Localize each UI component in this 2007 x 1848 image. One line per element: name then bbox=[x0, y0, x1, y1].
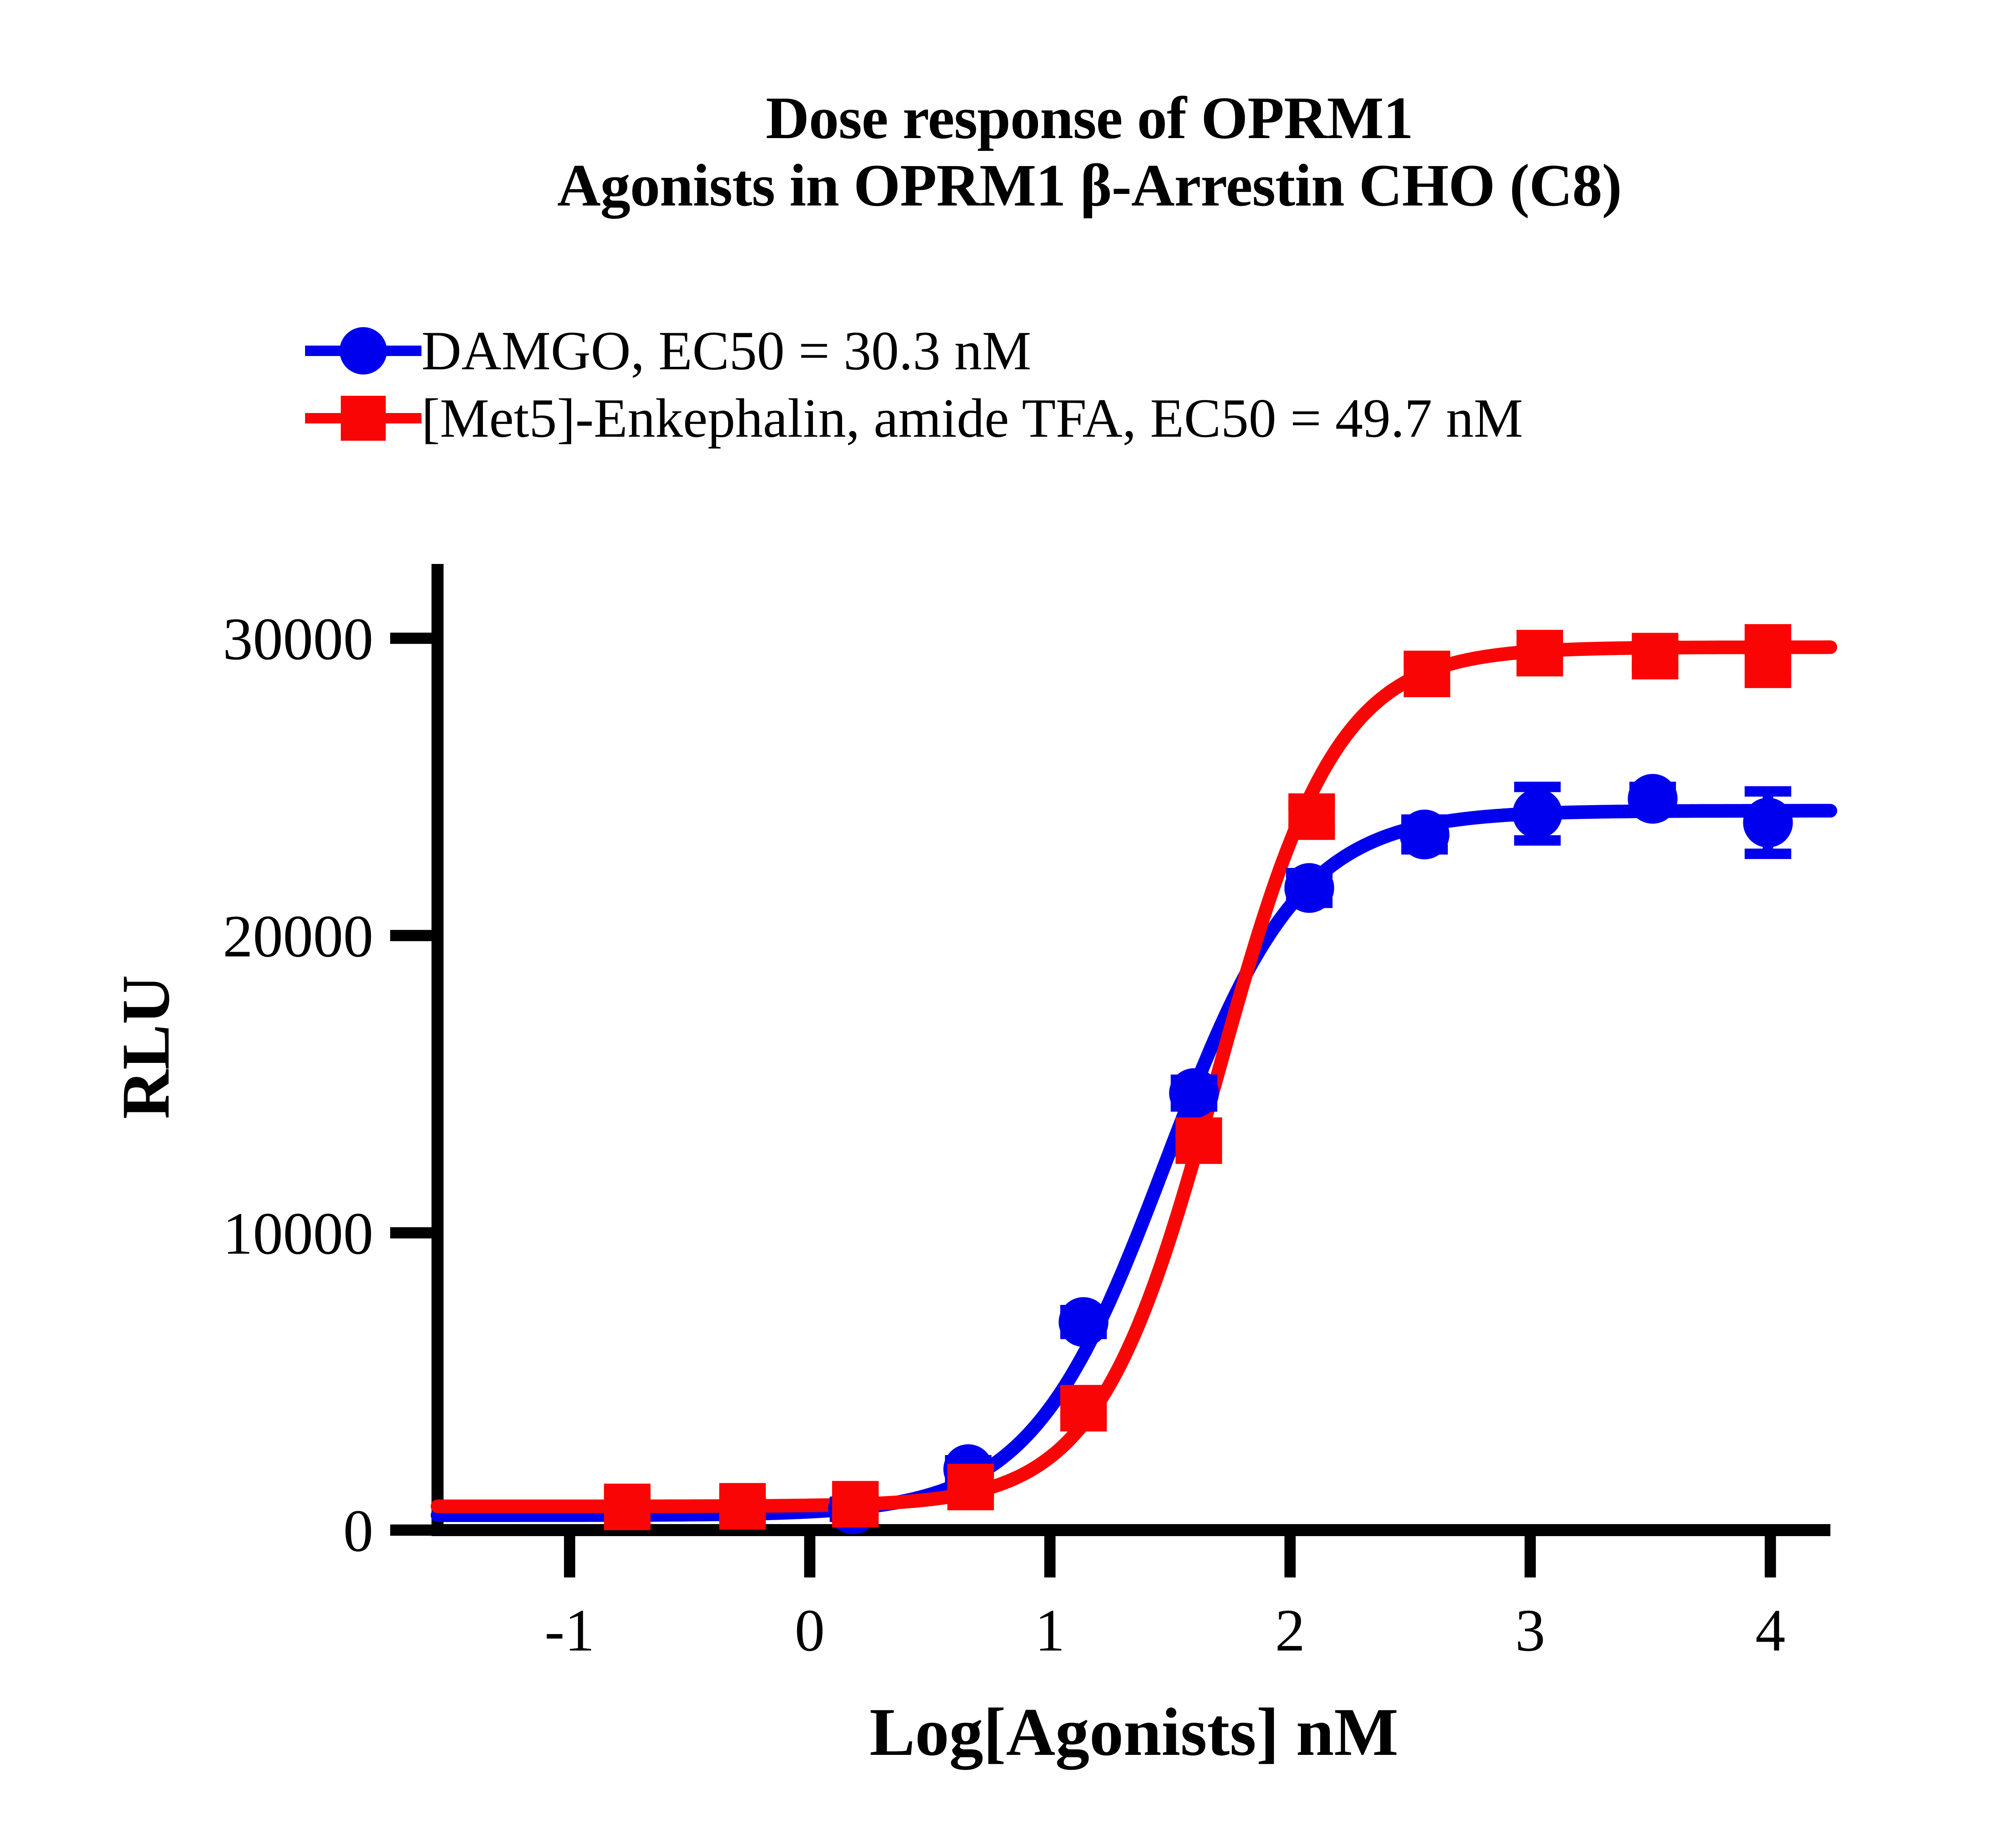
y-tick-label: 10000 bbox=[223, 1200, 373, 1267]
y-axis-title: RLU bbox=[108, 975, 183, 1119]
data-point-circle bbox=[1512, 789, 1562, 839]
data-point-circle bbox=[1743, 798, 1793, 847]
data-point-square bbox=[1176, 1117, 1222, 1164]
x-axis-title: Log[Agonists] nM bbox=[869, 1694, 1398, 1770]
data-point-square bbox=[947, 1464, 994, 1510]
data-point-square bbox=[1404, 651, 1450, 697]
curve-circle bbox=[438, 811, 1830, 1515]
data-point-circle bbox=[1169, 1068, 1219, 1118]
chart-page: Dose response of OPRM1 Agonists in OPRM1… bbox=[0, 0, 2007, 1848]
data-point-circle bbox=[1284, 863, 1334, 913]
x-tick-label: 0 bbox=[795, 1597, 825, 1664]
data-point-circle bbox=[1628, 774, 1677, 824]
data-point-square bbox=[1516, 630, 1563, 676]
plot-area: 0100002000030000-101234RLULog[Agonists] … bbox=[0, 0, 2007, 1848]
y-tick-label: 20000 bbox=[223, 903, 373, 970]
x-tick-label: -1 bbox=[545, 1597, 595, 1664]
data-point-square bbox=[832, 1481, 879, 1528]
data-point-square bbox=[604, 1484, 651, 1530]
x-tick-label: 3 bbox=[1515, 1597, 1545, 1664]
x-tick-label: 1 bbox=[1035, 1597, 1065, 1664]
data-point-circle bbox=[1400, 810, 1449, 859]
x-tick-label: 4 bbox=[1755, 1597, 1785, 1664]
data-point-square bbox=[1060, 1385, 1107, 1431]
data-point-circle bbox=[1058, 1297, 1108, 1347]
curve-square bbox=[438, 647, 1830, 1506]
data-point-square bbox=[1288, 794, 1335, 840]
data-point-square bbox=[1632, 633, 1678, 680]
data-point-square bbox=[1744, 633, 1791, 680]
chart-svg: 0100002000030000-101234RLULog[Agonists] … bbox=[0, 0, 2007, 1848]
data-point-square bbox=[719, 1483, 766, 1530]
x-tick-label: 2 bbox=[1275, 1597, 1305, 1664]
y-tick-label: 30000 bbox=[223, 606, 373, 672]
y-tick-label: 0 bbox=[343, 1498, 373, 1564]
